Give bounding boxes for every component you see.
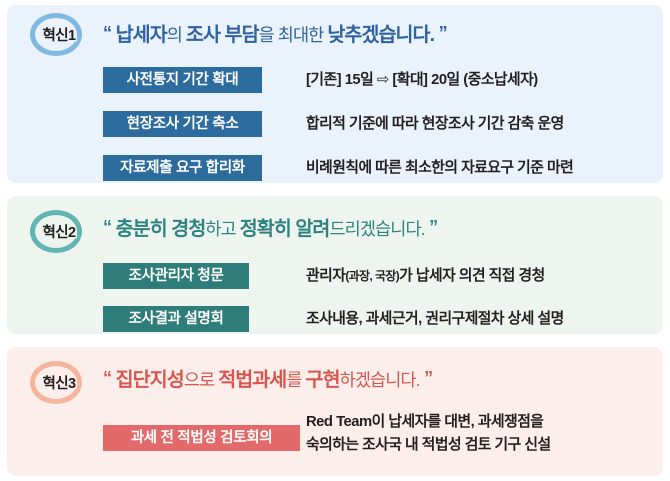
innovation-badge-3: 혁신3 [28,361,90,405]
measure-description: [기존] 15일 ⇨ [확대] 20일 (중소납세자) [306,67,538,93]
innovation-headline-2: “ 충분히 경청하고 정확히 알려드리겠습니다. ” [103,218,437,240]
measure-description: 관리자(과장, 국장)가 납세자 의견 직접 경청 [306,263,545,289]
innovation-headline-3: “ 집단지성으로 적법과세를 구현하겠습니다. ” [103,369,432,391]
measure-description: 비례원칙에 따른 최소한의 자료요구 기준 마련 [306,155,573,181]
innovation-badge-1: 혁신1 [28,13,90,57]
measure-description: Red Team이 납세자를 대변, 과세쟁점을숙의하는 조사국 내 적법성 검… [306,411,551,457]
measure-tag[interactable]: 과세 전 적법성 검토회의 [103,425,300,451]
innovation-panel-1: 혁신1 “ 납세자의 조사 부담을 최대한 낮추겠습니다. ” 사전통지 기간 … [7,5,663,183]
innovation-badge-label: 혁신3 [28,372,90,393]
measure-tag[interactable]: 현장조사 기간 축소 [103,111,262,137]
measure-tag[interactable]: 조사관리자 청문 [103,263,249,289]
innovation-badge-label: 혁신1 [28,24,90,45]
innovation-badge-2: 혁신2 [28,210,90,254]
innovation-panel-3: 혁신3 “ 집단지성으로 적법과세를 구현하겠습니다. ” 과세 전 적법성 검… [7,347,663,476]
innovation-panel-2: 혁신2 “ 충분히 경청하고 정확히 알려드리겠습니다. ” 조사관리자 청문 … [7,196,663,334]
innovation-badge-label: 혁신2 [28,221,90,242]
measure-description: 조사내용, 과세근거, 권리구제절차 상세 설명 [306,306,564,332]
measure-tag[interactable]: 사전통지 기간 확대 [103,67,262,93]
measure-description: 합리적 기준에 따라 현장조사 기간 감축 운영 [306,111,564,137]
measure-tag[interactable]: 자료제출 요구 합리화 [103,155,262,181]
infographic-board: 혁신1 “ 납세자의 조사 부담을 최대한 낮추겠습니다. ” 사전통지 기간 … [0,0,670,481]
measure-tag[interactable]: 조사결과 설명회 [103,306,249,332]
innovation-headline-1: “ 납세자의 조사 부담을 최대한 낮추겠습니다. ” [103,24,447,46]
